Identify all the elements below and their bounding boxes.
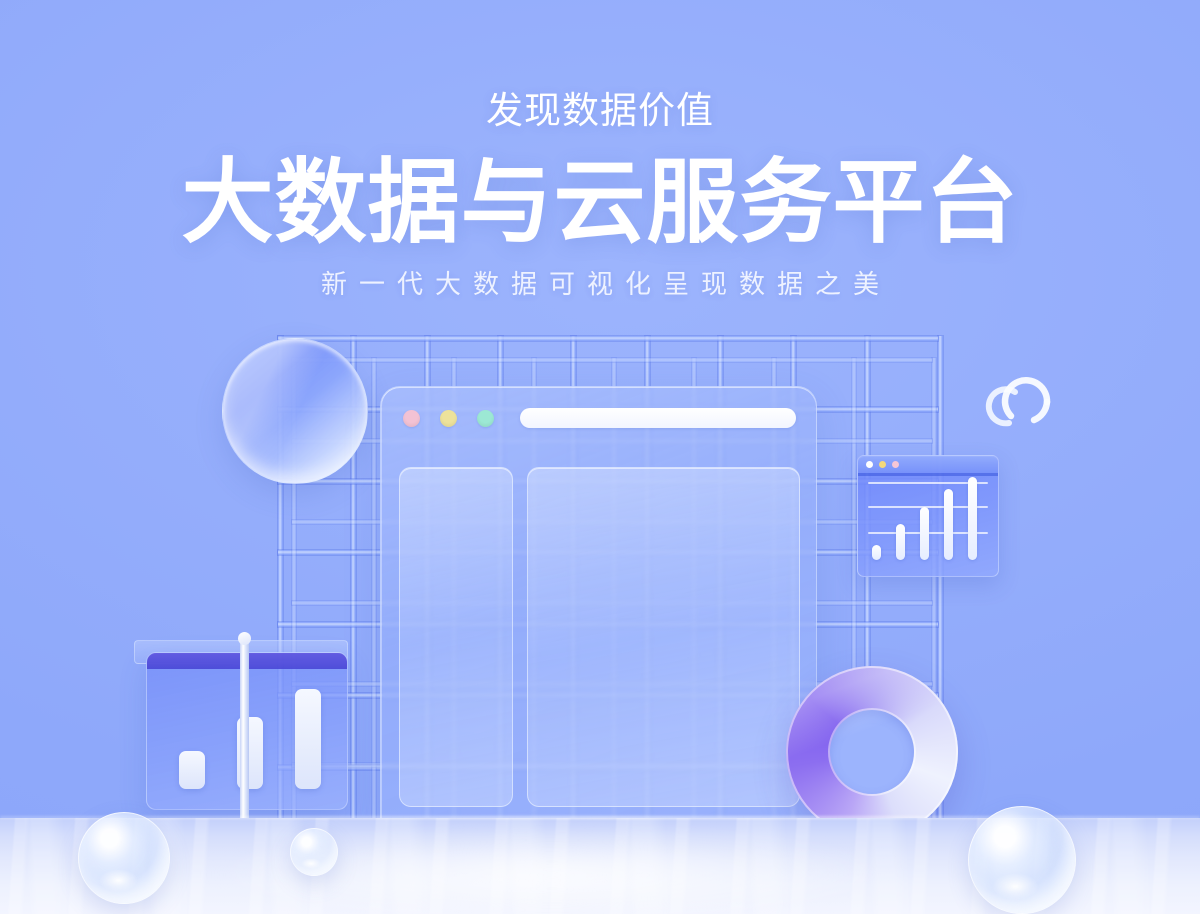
chart-bar [944, 489, 953, 560]
grid-horizontal-line [278, 336, 938, 341]
browser-title-bar [381, 387, 816, 449]
scene-canvas [0, 0, 1200, 914]
minimize-dot[interactable] [440, 410, 457, 427]
chart-bar [872, 545, 881, 560]
chart-bar [179, 751, 205, 789]
glass-disc [222, 338, 368, 484]
monitor-stand-cap [238, 632, 251, 645]
chart-bar [295, 689, 321, 789]
chart-bar [896, 524, 905, 560]
white-dot[interactable] [866, 461, 873, 468]
mini-chart-window[interactable] [857, 455, 999, 577]
pink-dot[interactable] [892, 461, 899, 468]
content-panel[interactable] [527, 467, 800, 807]
sidebar-panel[interactable] [399, 467, 513, 807]
chart-bar [968, 477, 977, 560]
glass-sphere-small-center [290, 828, 338, 876]
monitor-stand-pole [240, 638, 249, 834]
maximize-dot[interactable] [477, 410, 494, 427]
address-bar-input[interactable] [520, 408, 796, 428]
yellow-dot[interactable] [879, 461, 886, 468]
close-dot[interactable] [403, 410, 420, 427]
cloud-icon [978, 366, 1062, 432]
mini-window-divider [858, 473, 998, 476]
mini-window-title-bar [858, 456, 998, 473]
glass-sphere-large-left [78, 812, 170, 904]
main-browser-window[interactable] [380, 386, 817, 824]
glass-torus [786, 666, 958, 838]
chart-bar [920, 507, 929, 560]
glass-sphere-right [968, 806, 1076, 914]
grid-horizontal-line [292, 358, 932, 362]
